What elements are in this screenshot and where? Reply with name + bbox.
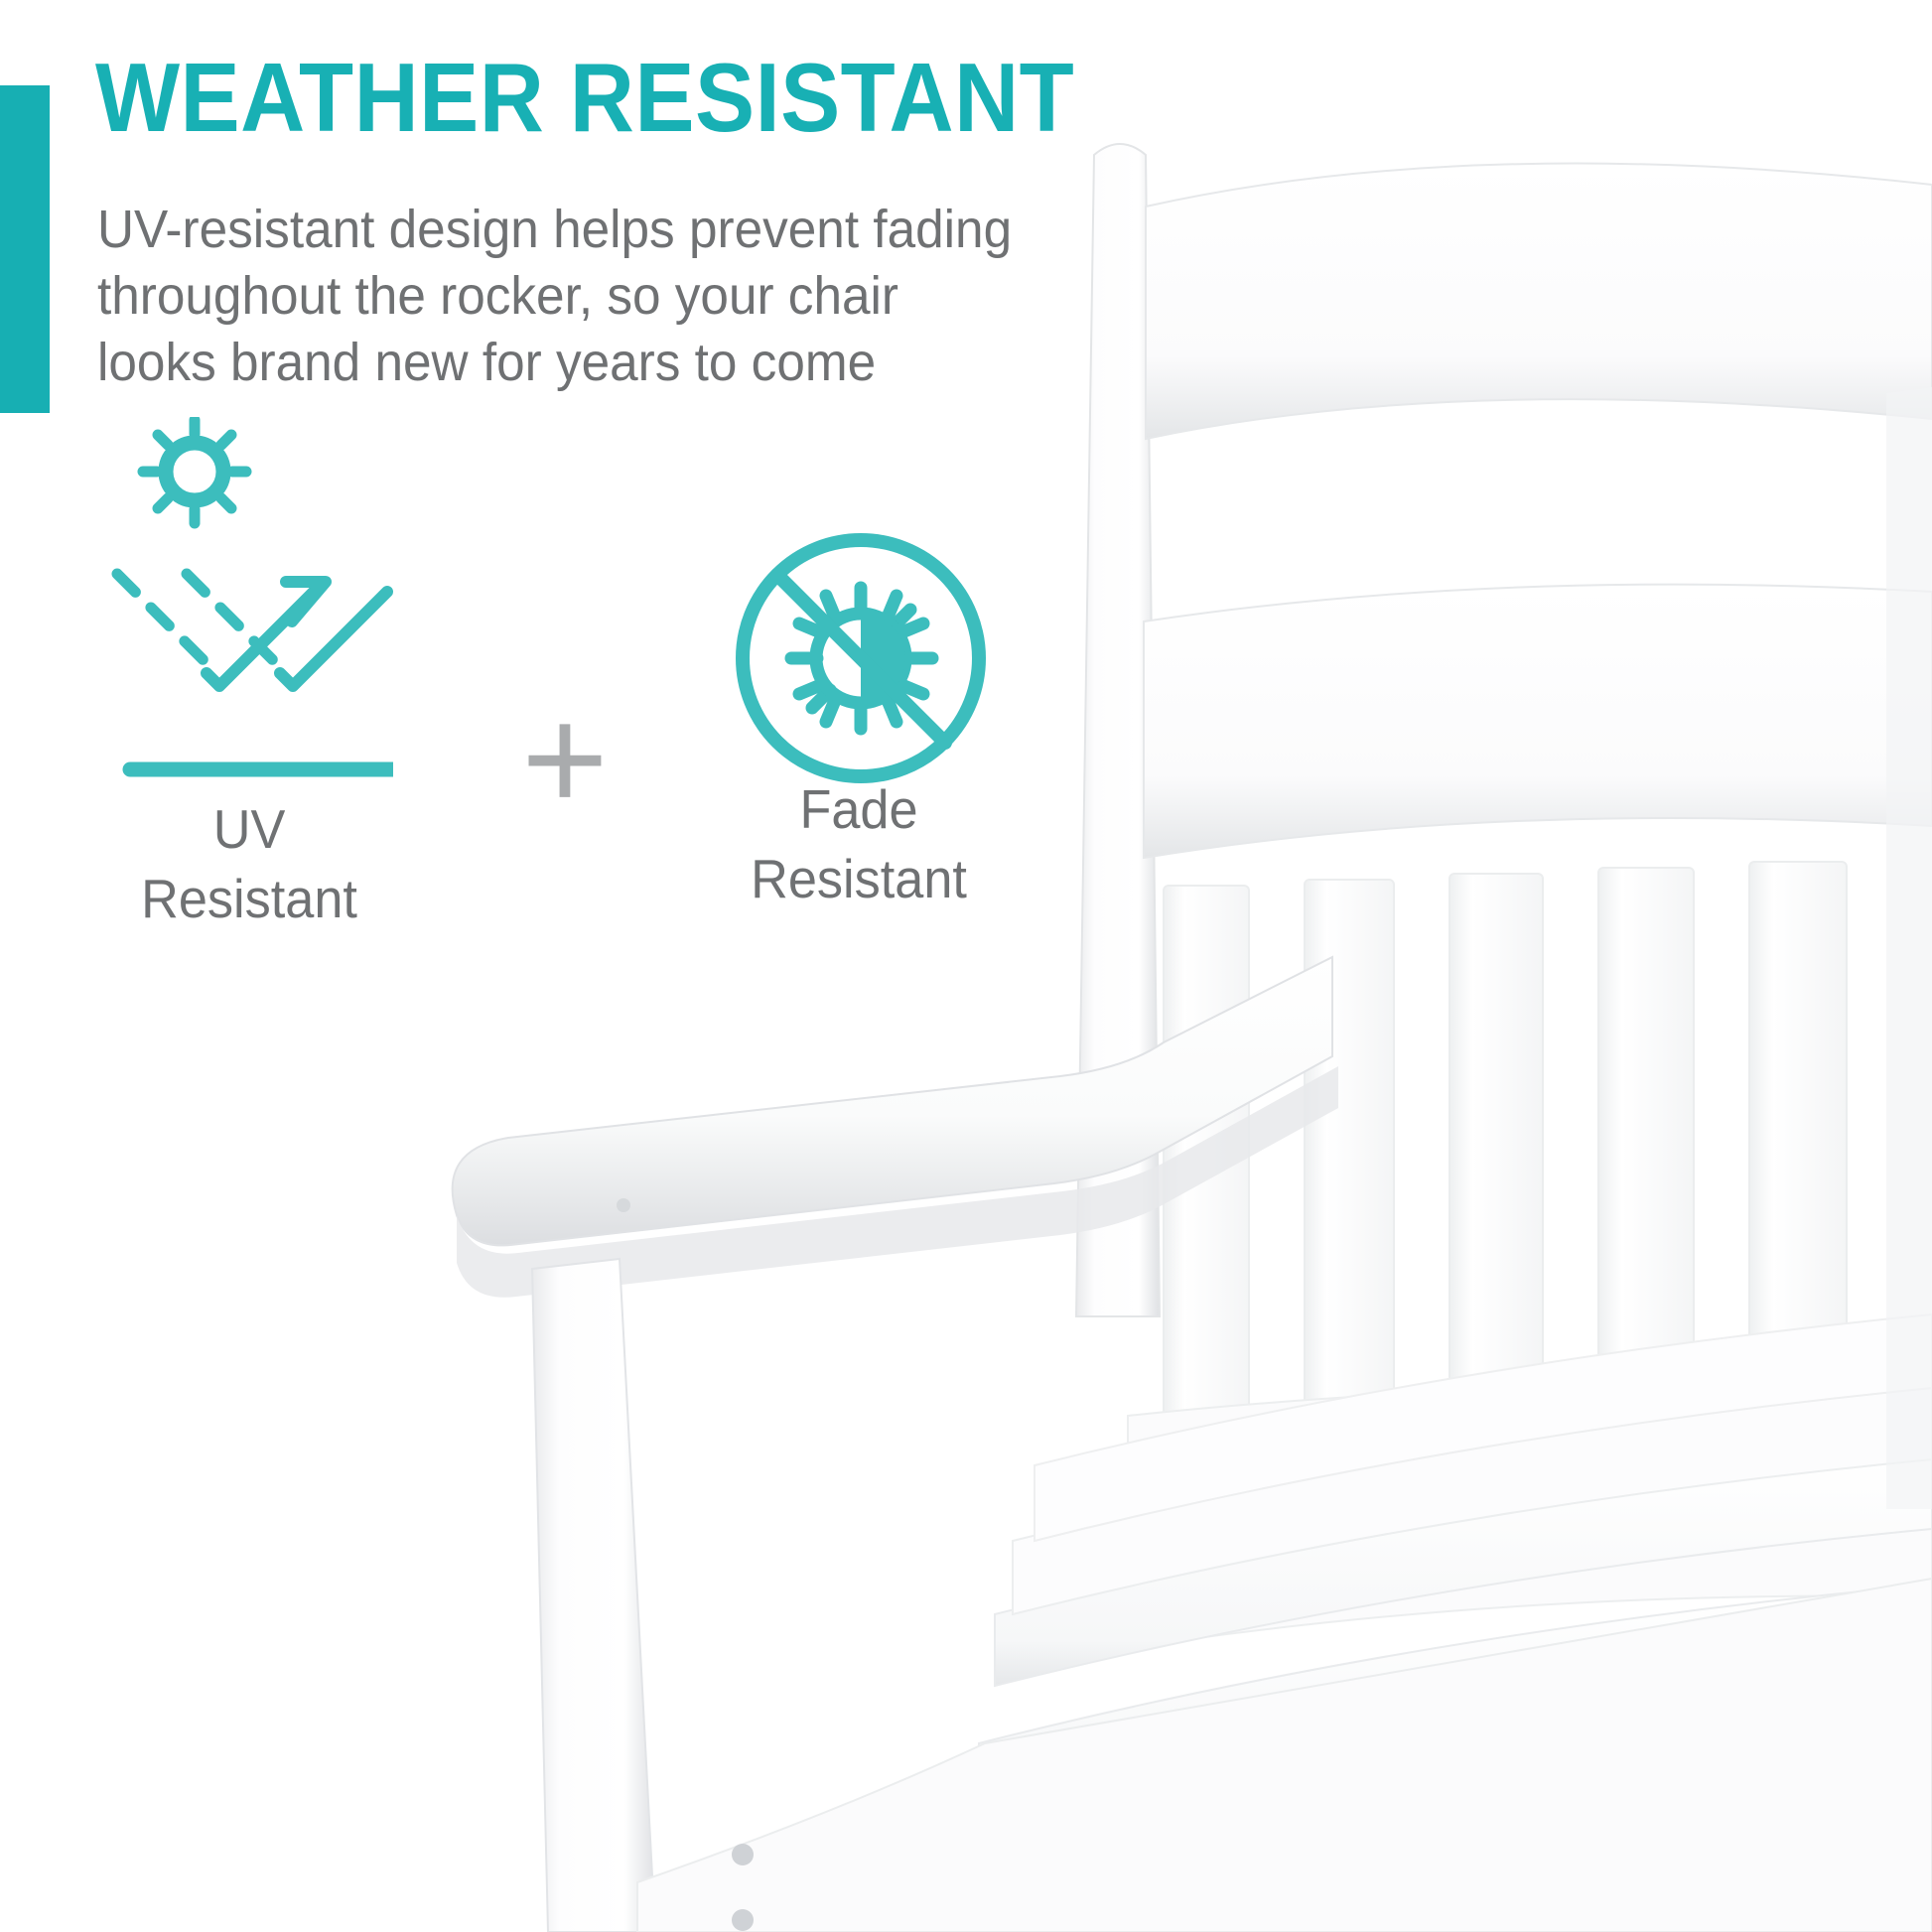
sun-rays	[143, 420, 246, 523]
chair-right-back-post	[1886, 387, 1932, 1509]
armrest-screw-hole	[617, 1198, 630, 1212]
uv-resistant-icon	[95, 417, 393, 804]
feature-uv-resistant: UV Resistant	[95, 417, 393, 814]
apron-screw-bottom	[732, 1909, 754, 1931]
chair-front-leg-post	[532, 1259, 655, 1932]
feature-uv-label-line-1: UV	[61, 794, 438, 864]
product-photo-rocking-chair	[427, 95, 1932, 1932]
chair-mid-rail	[1144, 585, 1932, 858]
chair-seat-apron	[637, 1579, 1932, 1932]
marketing-banner: WEATHER RESISTANT UV-resistant design he…	[0, 0, 1932, 1932]
reflected-arrows	[207, 582, 387, 686]
feature-uv-label-line-2: Resistant	[61, 864, 438, 933]
feature-uv-resistant-label: UV Resistant	[61, 794, 438, 933]
sun-disc	[166, 443, 223, 500]
chair-top-crest-rail	[1146, 164, 1932, 439]
apron-screw-top	[732, 1844, 754, 1865]
